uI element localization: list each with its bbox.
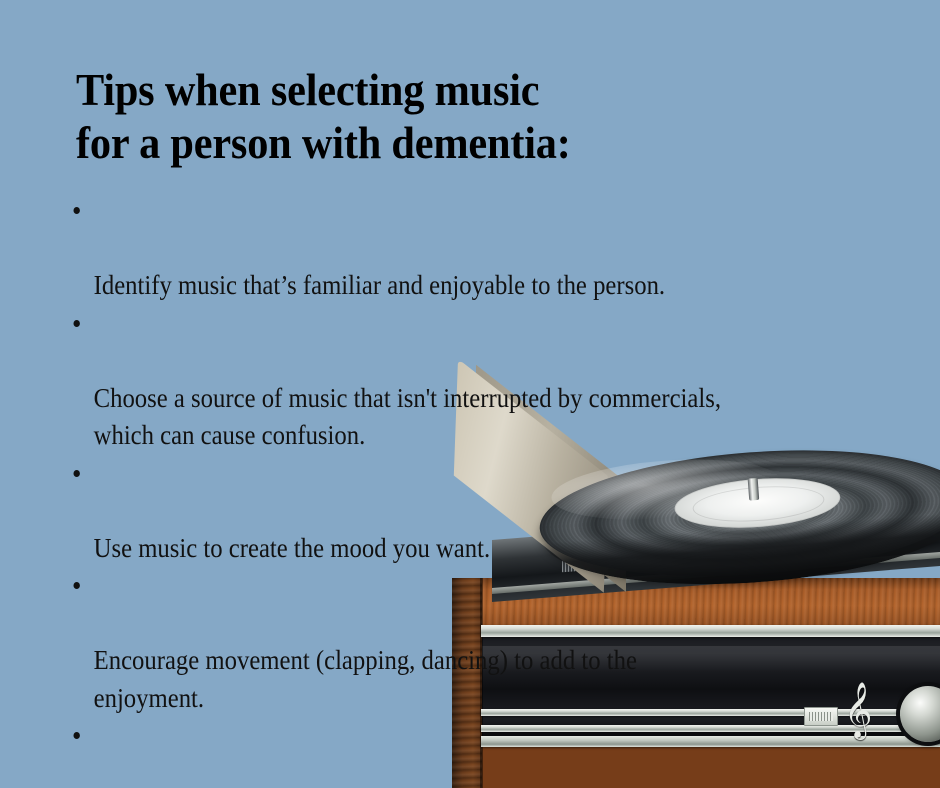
list-item-text: Choose a source of music that isn't inte… xyxy=(94,383,721,451)
list-item-text: Identify music that’s familiar and enjoy… xyxy=(94,270,665,300)
bullet-icon xyxy=(73,320,79,327)
bullet-icon xyxy=(73,732,79,739)
tips-list: Identify music that’s familiar and enjoy… xyxy=(68,192,898,788)
list-item: Identify music that’s familiar and enjoy… xyxy=(68,192,827,305)
bullet-icon xyxy=(73,582,79,589)
bullet-icon xyxy=(73,470,79,477)
list-item-text: Use music to create the mood you want. xyxy=(94,533,491,563)
list-item: Choose a source of music that isn't inte… xyxy=(68,305,827,455)
bullet-icon xyxy=(73,207,79,214)
page-title: Tips when selecting music for a person w… xyxy=(76,64,571,170)
list-item-text: Encourage movement (clapping, dancing) t… xyxy=(94,645,637,713)
list-item: Avoid sensory overload; eliminate compet… xyxy=(68,717,827,788)
list-item: Encourage movement (clapping, dancing) t… xyxy=(68,567,827,717)
poster-canvas: 𝄞 Tips when selecting music for a person… xyxy=(0,0,940,788)
list-item: Use music to create the mood you want. xyxy=(68,455,827,568)
